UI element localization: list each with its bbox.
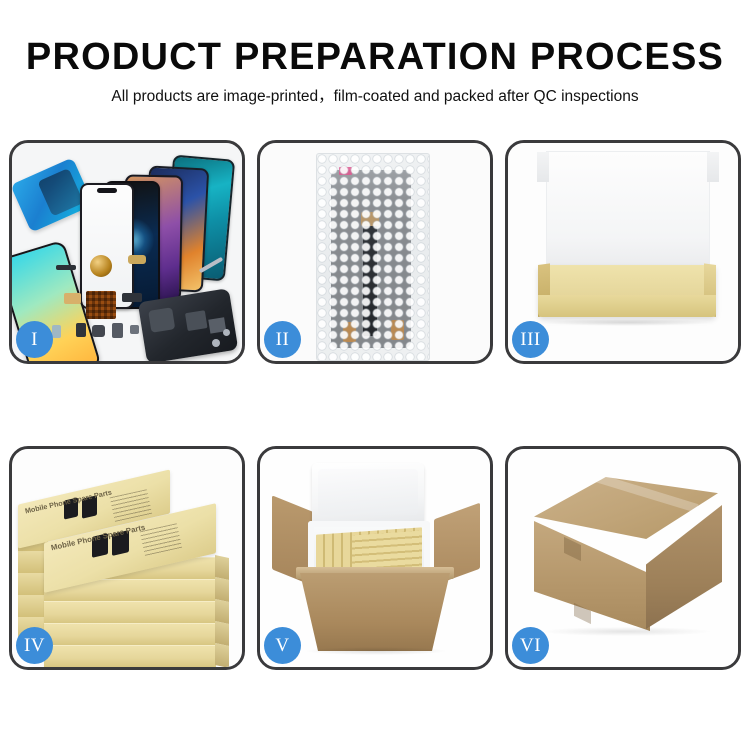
stack-slab xyxy=(44,645,216,667)
process-steps-grid: I II III xyxy=(9,140,741,670)
small-part xyxy=(76,323,86,337)
step-panel-6: VI xyxy=(505,446,741,670)
small-part xyxy=(122,293,142,302)
page-subtitle: All products are image-printed，film-coat… xyxy=(0,76,750,105)
wireless-coil-part xyxy=(90,255,112,277)
phone-back-housing xyxy=(138,288,239,361)
tray-shadow xyxy=(542,319,712,326)
small-part xyxy=(52,325,61,338)
step-badge-6: VI xyxy=(512,627,549,664)
step-badge-3: III xyxy=(512,321,549,358)
kraft-box-stack: Mobile Phone Spare Parts Mobile Phone Sp… xyxy=(16,461,242,661)
carton-body xyxy=(300,573,450,651)
step-badge-2: II xyxy=(264,321,301,358)
small-part xyxy=(92,325,105,337)
kraft-tray-front xyxy=(538,295,716,317)
product-preparation-page: PRODUCT PREPARATION PROCESS All products… xyxy=(0,0,750,750)
stack-slab xyxy=(44,601,216,624)
connector-part xyxy=(391,320,404,340)
carton-shadow xyxy=(542,627,710,636)
carton-shadow xyxy=(306,647,446,655)
stack-slab xyxy=(44,623,216,646)
step-badge-5: V xyxy=(264,627,301,664)
bubble-wrap-bag xyxy=(316,153,430,361)
step-panel-4: Mobile Phone Spare Parts Mobile Phone Sp… xyxy=(9,446,245,670)
connector-part xyxy=(343,322,356,342)
phone-notch-icon xyxy=(97,188,117,193)
white-foam-sheet xyxy=(546,151,710,275)
small-part xyxy=(112,323,123,338)
small-part xyxy=(56,265,76,270)
screw-part xyxy=(212,339,220,347)
page-header: PRODUCT PREPARATION PROCESS All products… xyxy=(0,0,750,105)
sealed-carton-left-face xyxy=(534,521,650,631)
screw-part xyxy=(223,329,230,336)
small-part xyxy=(128,255,146,264)
step-panel-5: V xyxy=(257,446,493,670)
lcd-screen-inside xyxy=(331,170,411,348)
pink-qc-label xyxy=(339,167,352,175)
page-title: PRODUCT PREPARATION PROCESS xyxy=(0,0,750,76)
foam-lid xyxy=(312,463,424,525)
step-panel-2: II xyxy=(257,140,493,364)
flex-cable xyxy=(363,226,377,336)
small-part xyxy=(64,293,81,304)
step-badge-4: IV xyxy=(16,627,53,664)
step-panel-3: III xyxy=(505,140,741,364)
step-badge-1: I xyxy=(16,321,53,358)
small-part xyxy=(130,325,139,334)
chip-array-part xyxy=(86,291,116,319)
step-panel-1: I xyxy=(9,140,245,364)
